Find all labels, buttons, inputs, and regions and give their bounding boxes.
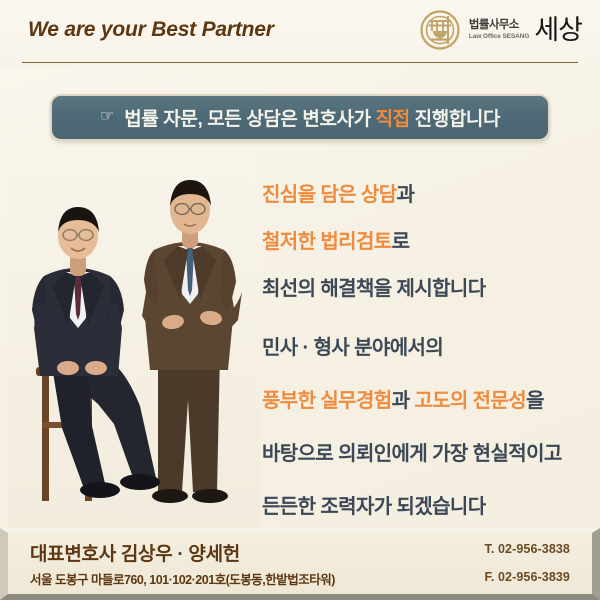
brand-wordmark: 법률사무소 Law Office SESANG 세상 [469,17,582,44]
copy-line: 바탕으로 의뢰인에게 가장 현실적이고 [262,437,592,466]
office-address: 서울 도봉구 마들로760, 101·102·201호(도봉동,한밭법조타워) [30,569,335,588]
copy-highlight-2: 고도의 전문성 [414,390,526,412]
header-tagline: We are your Best Partner [28,18,274,42]
header-bar: We are your Best Partner 법률사무소 Law Off [0,0,600,66]
pointing-hand-icon: ☞ [100,109,114,125]
copy-plain: 과 [392,390,415,412]
copy-highlight: 풍부한 실무경험 [262,390,392,412]
copy-line: 민사 · 형사 분야에서의 [262,331,592,360]
banner-text-before: 법률 자문, 모든 상담은 변호사가 [124,109,370,130]
footer-contact-bar: 대표변호사 김상우 · 양세헌 서울 도봉구 마들로760, 101·102·2… [0,528,600,600]
copy-plain: 로 [392,231,410,253]
copy-plain: 최선의 해결책을 제시합니다 [262,278,486,300]
fax-number: F. 02-956-3839 [485,570,571,584]
marketing-copy: 진심을 담은 상담과 철저한 법리검토로 최선의 해결책을 제시합니다 민사 ·… [262,178,592,519]
brand-korean-large: 세상 [534,17,582,44]
copy-line: 철저한 법리검토로 [262,225,592,254]
copy-line: 최선의 해결책을 제시합니다 [262,272,592,301]
copy-line: 든든한 조력자가 되겠습니다 [262,490,592,519]
sesang-emblem-icon [418,8,462,52]
copy-plain-2: 을 [526,390,544,412]
copy-highlight: 진심을 담은 상담 [262,184,397,206]
banner-text-after: 진행합니다 [415,109,500,130]
banner-text-highlight: 직접 [376,109,410,130]
brand-korean-small: 법률사무소 [469,20,519,32]
copy-line: 진심을 담은 상담과 [262,178,592,207]
consultation-banner: ☞ 법률 자문, 모든 상담은 변호사가 직접 진행합니다 [50,94,550,141]
copy-plain: 든든한 조력자가 되겠습니다 [262,496,486,518]
representative-lawyers: 대표변호사 김상우 · 양세헌 [30,539,240,566]
copy-line: 풍부한 실무경험과 고도의 전문성을 [262,384,592,413]
copy-plain: 과 [397,184,415,206]
brand-logo: 법률사무소 Law Office SESANG 세상 [418,6,582,54]
copy-highlight: 철저한 법리검토 [262,231,392,253]
copy-plain: 바탕으로 의뢰인에게 가장 현실적이고 [262,443,562,465]
telephone-number: T. 02-956-3838 [485,542,571,556]
copy-plain: 민사 · 형사 분야에서의 [262,337,443,359]
header-divider [22,62,578,63]
law-firm-banner-ad: We are your Best Partner 법률사무소 Law Off [0,0,600,600]
lawyers-photo [8,152,260,528]
banner-text: 법률 자문, 모든 상담은 변호사가 직접 진행합니다 [124,104,500,131]
brand-english-small: Law Office SESANG [469,34,529,41]
